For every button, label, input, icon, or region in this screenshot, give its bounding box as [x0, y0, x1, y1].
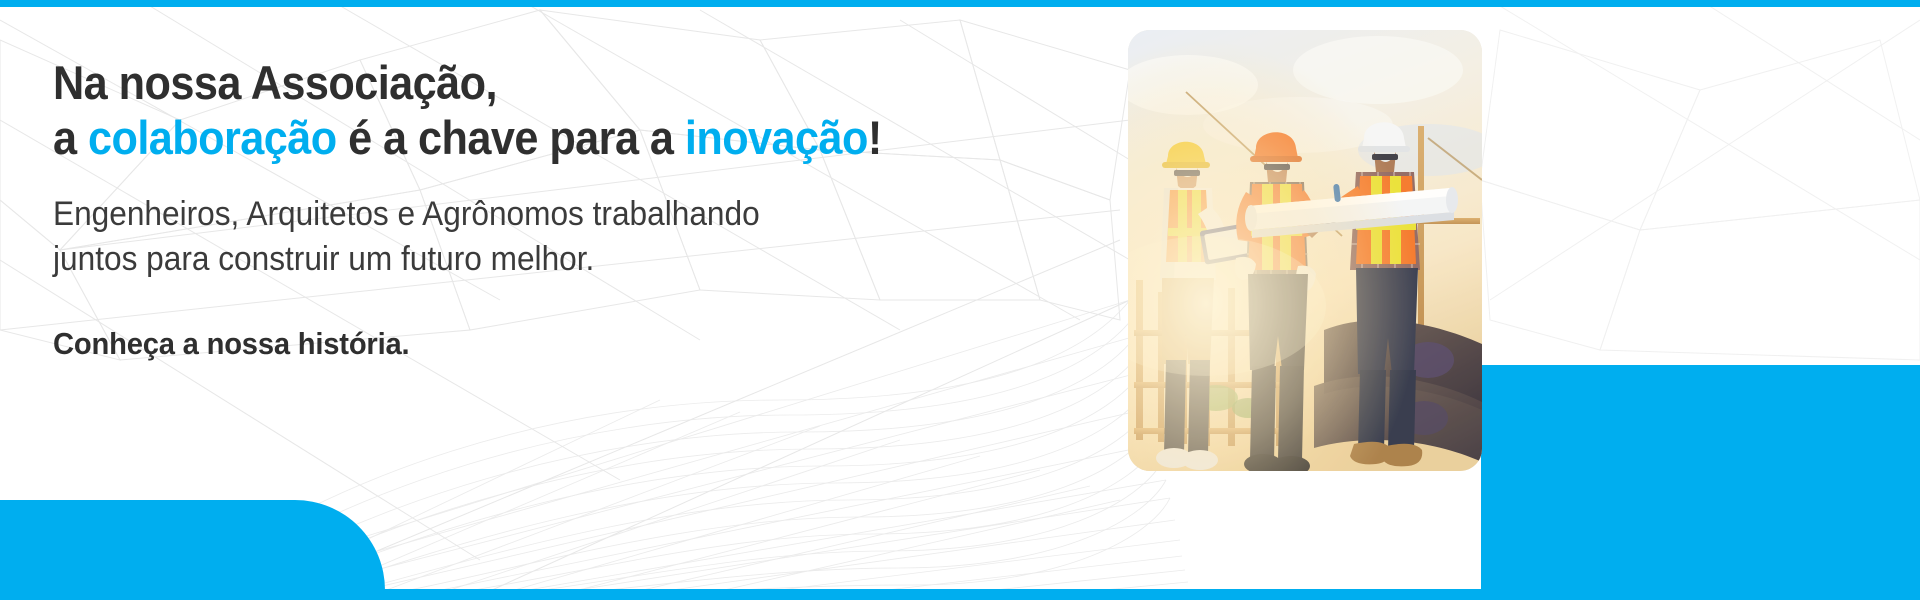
cta-text[interactable]: Conheça a nossa história.: [53, 326, 1040, 362]
headline-line-1: Na nossa Associação,: [53, 56, 1019, 111]
bottom-accent-bar: [0, 589, 1920, 600]
photo-illustration: [1128, 30, 1482, 471]
headline: Na nossa Associação, a colaboração é a c…: [53, 56, 1019, 166]
headline-accent-inovacao: inovação: [685, 111, 868, 164]
subheading-line-1: Engenheiros, Arquitetos e Agrônomos trab…: [53, 192, 1030, 237]
headline-accent-colaboracao: colaboração: [88, 111, 337, 164]
subheading: Engenheiros, Arquitetos e Agrônomos trab…: [53, 192, 1030, 282]
subheading-line-2: juntos para construir um futuro melhor.: [53, 237, 1030, 282]
right-blue-shape: [1481, 365, 1920, 589]
promo-banner: Na nossa Associação, a colaboração é a c…: [0, 0, 1920, 600]
construction-workers-photo: [1128, 30, 1482, 471]
top-accent-bar: [0, 0, 1920, 7]
headline-line-2: a colaboração é a chave para a inovação!: [53, 111, 1019, 166]
headline-text-a: a: [53, 111, 88, 164]
headline-text-b: é a chave para a: [337, 111, 685, 164]
banner-content: Na nossa Associação, a colaboração é a c…: [53, 56, 1103, 362]
headline-exclamation: !: [868, 111, 882, 164]
bottom-left-blue-shape: [0, 500, 385, 590]
